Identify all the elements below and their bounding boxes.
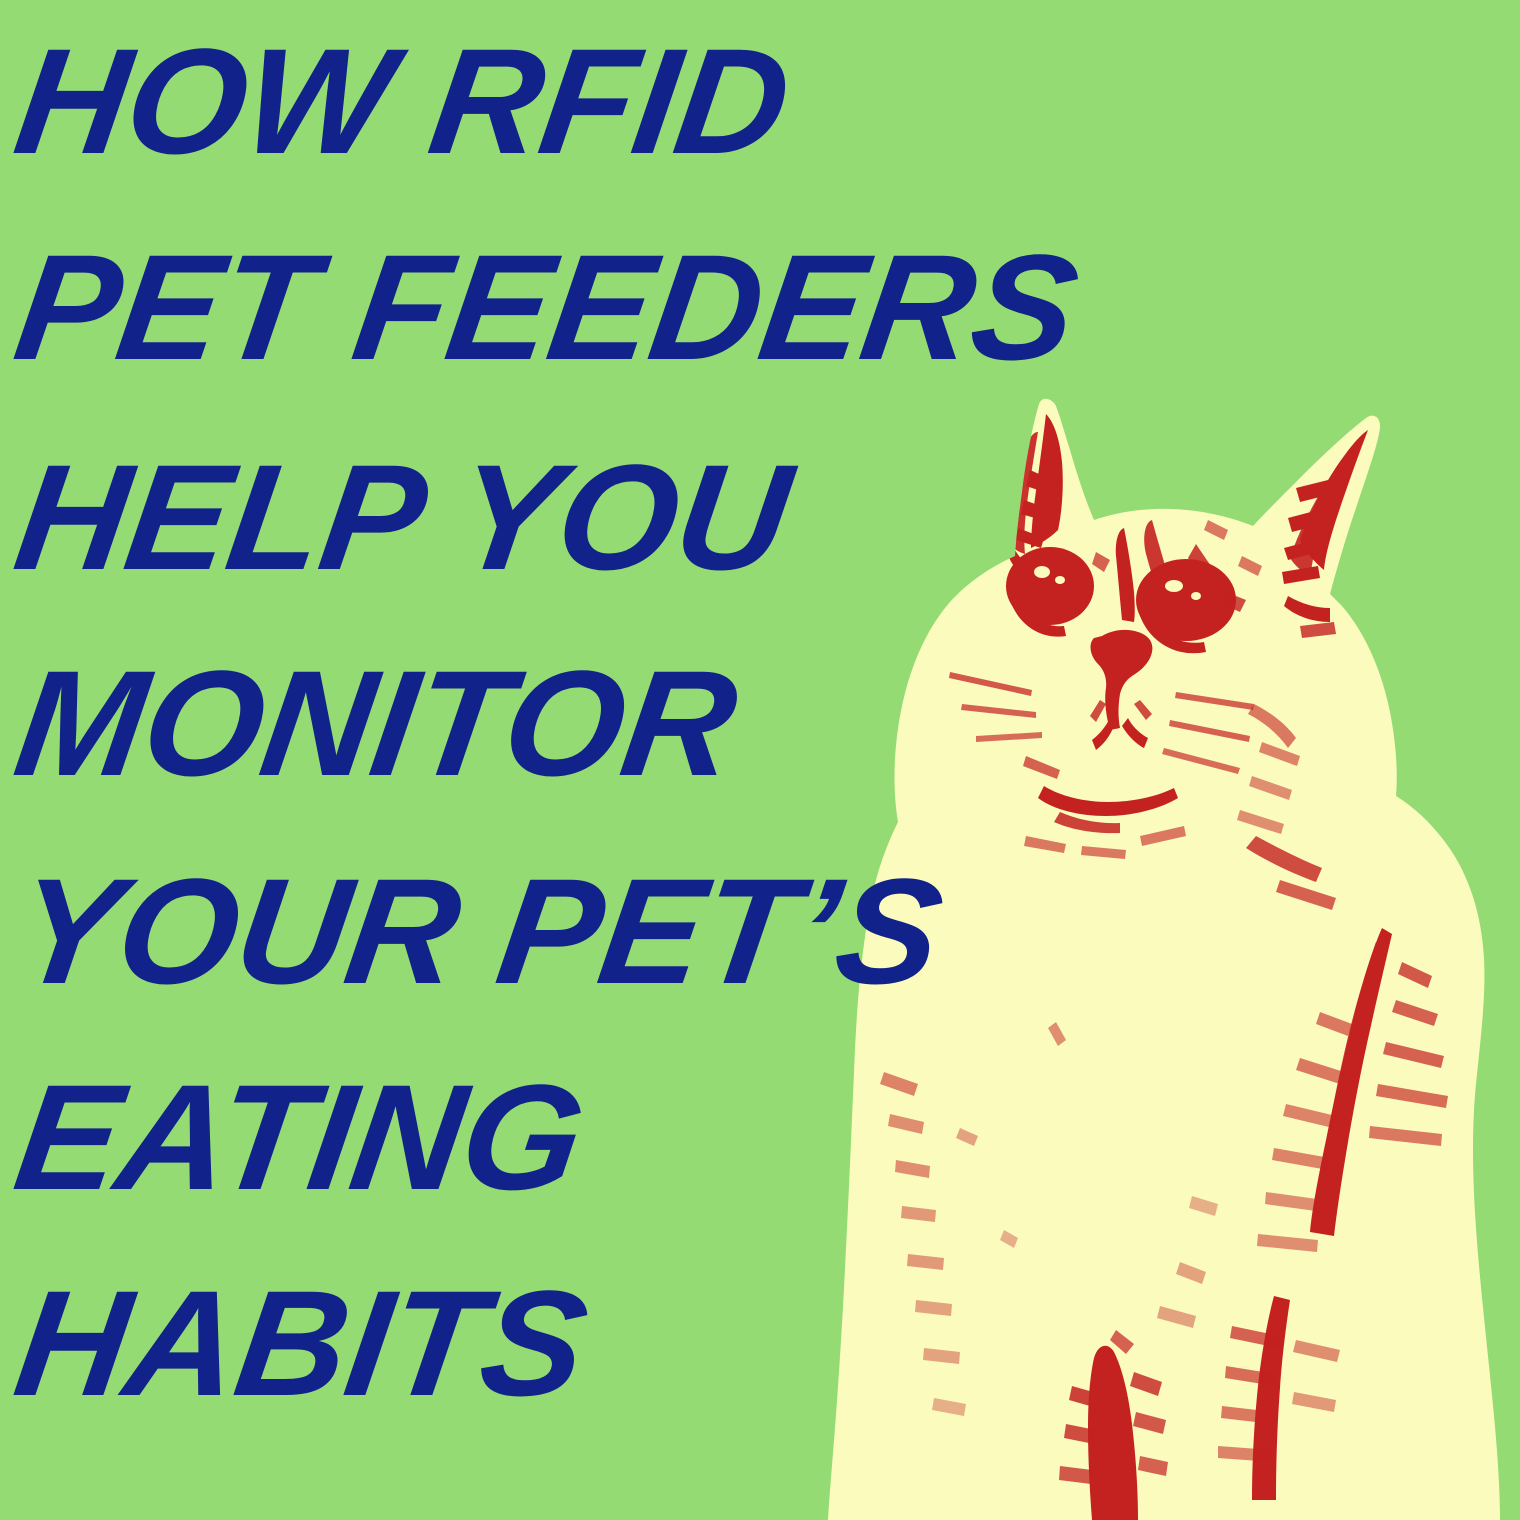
headline-line-3: HELP YOU — [7, 442, 1520, 592]
headline-line-1: HOW RFID — [7, 26, 1520, 176]
headline-block: HOW RFID PET FEEDERS HELP YOU MONITOR YO… — [0, 0, 1520, 1520]
headline-line-2: PET FEEDERS — [7, 232, 1520, 382]
headline-line-4: MONITOR — [7, 648, 1520, 798]
headline-line-5: YOUR PET’S — [7, 856, 1520, 1006]
headline-line-6: EATING — [7, 1062, 1520, 1212]
poster-canvas: HOW RFID PET FEEDERS HELP YOU MONITOR YO… — [0, 0, 1520, 1520]
headline-line-7: HABITS — [7, 1268, 1520, 1418]
